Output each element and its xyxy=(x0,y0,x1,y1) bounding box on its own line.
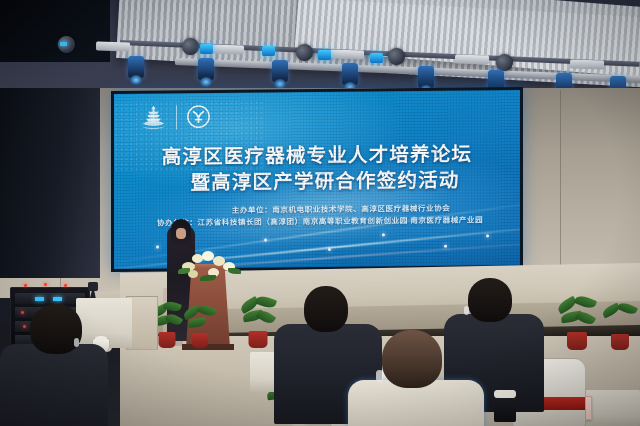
ceiling-lamp-bar xyxy=(455,54,489,64)
led-sparkle xyxy=(486,234,489,237)
stage-light-glow xyxy=(318,50,331,60)
potted-plant xyxy=(600,302,640,350)
stage-light-glow xyxy=(262,46,275,56)
led-sparkle xyxy=(264,238,267,241)
circle-emblem-icon xyxy=(186,104,211,129)
potted-plant xyxy=(555,296,599,350)
ceiling-lamp-bar xyxy=(330,49,364,59)
tissue-box xyxy=(494,396,516,422)
indicator-light xyxy=(24,284,27,287)
stage-light-glow xyxy=(200,44,213,54)
conference-photo-scene: 高淳区医疗器械专业人才培养论坛 暨高淳区产学研合作签约活动 主办单位：南京机电职… xyxy=(0,0,640,426)
pagoda-icon xyxy=(140,103,167,130)
led-sparkle xyxy=(444,245,447,248)
rack-unit xyxy=(15,293,85,304)
wall-dark-left-section xyxy=(0,88,100,278)
potted-plant xyxy=(238,296,278,348)
rack-status-light xyxy=(53,297,62,301)
tissue xyxy=(494,390,516,398)
led-title-line1: 高淳区医疗器械专业人才培养论坛 xyxy=(162,145,473,169)
led-title: 高淳区医疗器械专业人才培养论坛 暨高淳区产学研合作签约活动 xyxy=(114,142,520,198)
indicator-light xyxy=(60,42,67,46)
led-sparkle xyxy=(156,246,159,249)
rack-status-light xyxy=(23,325,26,328)
ceiling-lamp-bar xyxy=(570,59,604,69)
ceiling-dark-corner xyxy=(0,0,110,62)
stage-light xyxy=(272,60,288,82)
led-sparkle xyxy=(328,248,331,251)
stage-light xyxy=(198,58,214,80)
ceiling-light-disc xyxy=(296,44,313,61)
ceiling-light-disc xyxy=(388,48,405,65)
presenter-face xyxy=(176,228,186,239)
podium-flower-arrangement xyxy=(178,248,240,282)
rack-status-light xyxy=(21,311,24,314)
ceiling-lamp-bar xyxy=(210,44,244,54)
potted-plant xyxy=(182,303,218,348)
rack-status-light xyxy=(35,297,44,301)
led-title-line2: 暨高淳区产学研合作签约活动 xyxy=(114,168,520,198)
ceiling xyxy=(0,0,640,96)
indicator-light xyxy=(44,283,47,286)
led-sparkle xyxy=(382,233,385,236)
ceiling-light-disc xyxy=(496,54,513,71)
wall-seam xyxy=(560,90,561,290)
led-logo-group xyxy=(140,103,211,131)
ceiling-lamp-bar xyxy=(96,41,130,51)
logo-divider xyxy=(176,105,177,129)
stage-light xyxy=(342,63,358,85)
stage-light xyxy=(128,56,144,78)
ceiling-light-disc xyxy=(182,38,199,55)
indicator-light xyxy=(64,284,67,287)
side-banner-text xyxy=(138,302,146,304)
stage-light xyxy=(418,66,434,88)
stage-light-glow xyxy=(370,53,383,63)
